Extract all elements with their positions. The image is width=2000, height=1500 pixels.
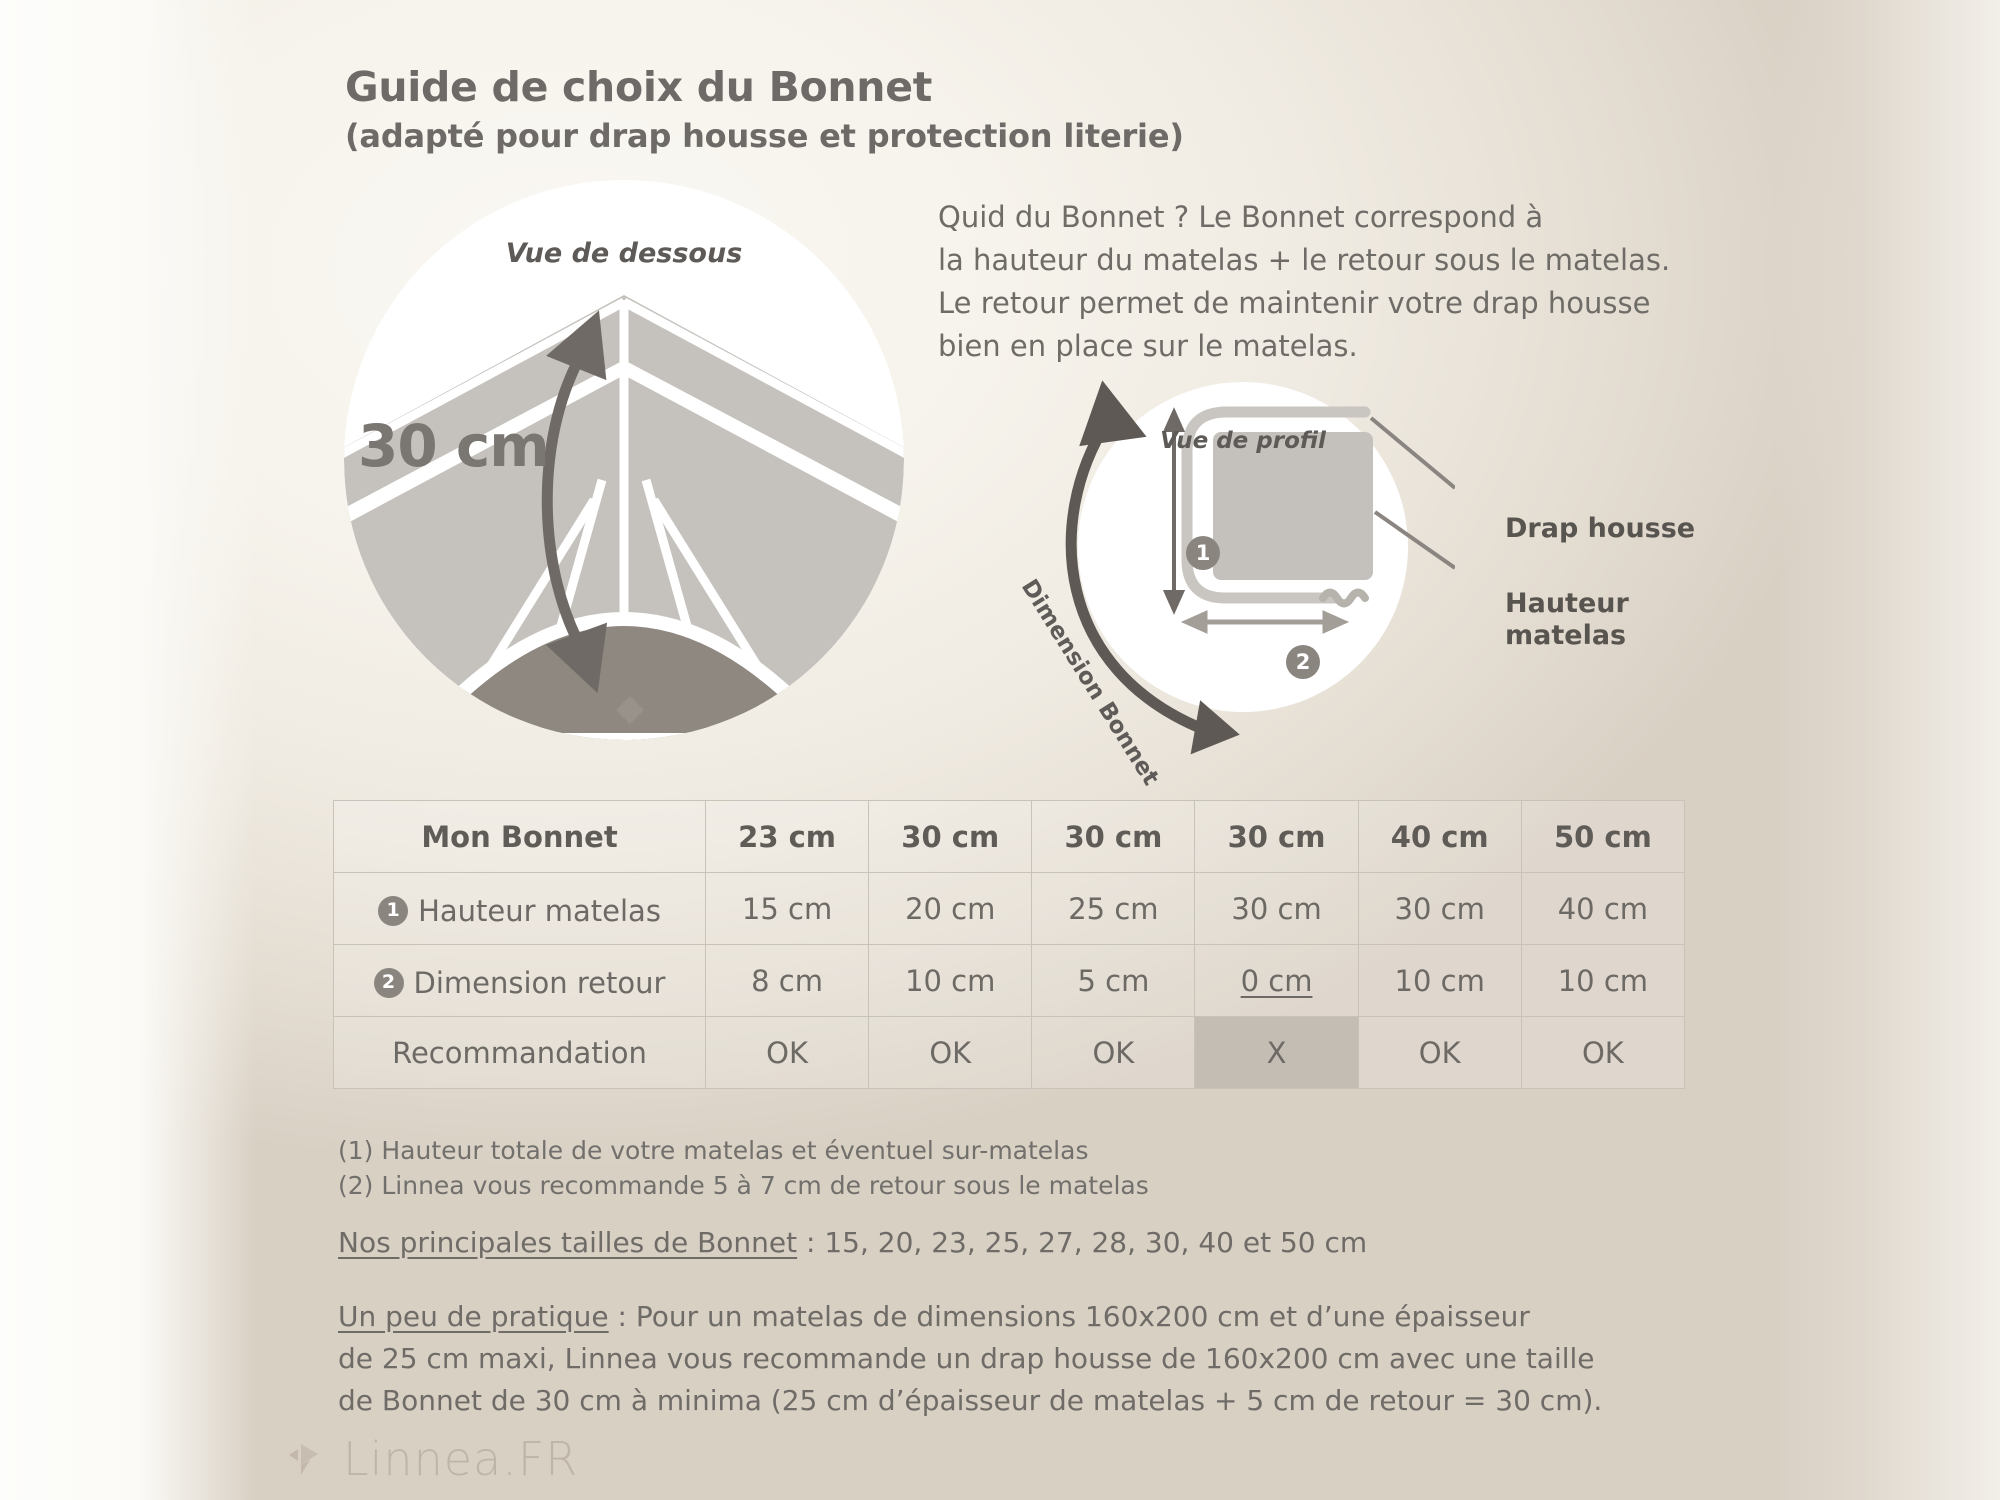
cell-reco-3: X [1195,1017,1358,1089]
cell-retour-1: 10 cm [869,945,1032,1017]
diagram-badge-1: 1 [1186,536,1220,570]
cell-retour-3-value: 0 cm [1241,964,1313,998]
cell-bonnet-5: 50 cm [1521,801,1684,873]
linnea-logo[interactable]: Linnea.FR [285,1432,578,1486]
diagram-badge-2: 2 [1286,645,1320,679]
table-badge-1: 1 [378,896,408,926]
bonnet-table: Mon Bonnet 23 cm 30 cm 30 cm 30 cm 40 cm… [333,800,1685,1089]
page-subtitle: (adapté pour drap housse et protection l… [345,117,1184,155]
bonnet-measure-label: 30 cm [358,412,549,480]
bottom-view-label: Vue de dessous [344,238,904,269]
row-label-mon-bonnet: Mon Bonnet [334,801,706,873]
callout-hauteur-line-2: matelas [1505,620,1629,652]
cell-reco-1: OK [869,1017,1032,1089]
cell-bonnet-4: 40 cm [1358,801,1521,873]
cell-bonnet-0: 23 cm [706,801,869,873]
practice-line-3: de Bonnet de 30 cm à minima (25 cm d’épa… [338,1380,1602,1422]
bonnet-comparison-table: Mon Bonnet 23 cm 30 cm 30 cm 30 cm 40 cm… [333,800,1685,1089]
footnote-1: (1) Hauteur totale de votre matelas et é… [338,1133,1149,1168]
table-row-header: Mon Bonnet 23 cm 30 cm 30 cm 30 cm 40 cm… [334,801,1685,873]
row-label-dimension-retour: 2 Dimension retour [334,945,706,1017]
cell-hauteur-1: 20 cm [869,873,1032,945]
cell-retour-0: 8 cm [706,945,869,1017]
cell-hauteur-3: 30 cm [1195,873,1358,945]
intro-paragraph: Quid du Bonnet ? Le Bonnet correspond à … [938,196,1698,368]
intro-line-3: Le retour permet de maintenir votre drap… [938,282,1698,325]
practice-block: Un peu de pratique : Pour un matelas de … [338,1296,1602,1422]
table-row-recommandation: Recommandation OK OK OK X OK OK [334,1017,1685,1089]
cell-bonnet-3: 30 cm [1195,801,1358,873]
intro-line-4: bien en place sur le matelas. [938,325,1698,368]
cell-reco-2: OK [1032,1017,1195,1089]
row-label-recommandation: Recommandation [334,1017,706,1089]
profile-view-label: Vue de profil [1078,428,1408,454]
cell-retour-3: 0 cm [1195,945,1358,1017]
callout-drap-housse: Drap housse [1505,513,1695,545]
intro-line-2: la hauteur du matelas + le retour sous l… [938,239,1698,282]
callout-hauteur-line-1: Hauteur [1505,588,1629,620]
cell-bonnet-2: 30 cm [1032,801,1195,873]
cell-hauteur-0: 15 cm [706,873,869,945]
cell-retour-2: 5 cm [1032,945,1195,1017]
infographic-canvas: Guide de choix du Bonnet (adapté pour dr… [0,0,2000,1500]
table-row-dimension-retour: 2 Dimension retour 8 cm 10 cm 5 cm 0 cm … [334,945,1685,1017]
sizes-line: Nos principales tailles de Bonnet : 15, … [338,1226,1367,1259]
practice-label: Un peu de pratique [338,1300,609,1333]
cell-hauteur-2: 25 cm [1032,873,1195,945]
footnotes: (1) Hauteur totale de votre matelas et é… [338,1133,1149,1203]
cell-retour-5: 10 cm [1521,945,1684,1017]
linnea-logo-text: Linnea.FR [343,1432,578,1486]
cell-reco-4: OK [1358,1017,1521,1089]
row-label-hauteur-matelas: 1 Hauteur matelas [334,873,706,945]
footnote-2: (2) Linnea vous recommande 5 à 7 cm de r… [338,1168,1149,1203]
linnea-mark-icon [285,1439,327,1479]
intro-line-1: Quid du Bonnet ? Le Bonnet correspond à [938,196,1698,239]
page-title: Guide de choix du Bonnet [345,63,932,111]
table-row-hauteur-matelas: 1 Hauteur matelas 15 cm 20 cm 25 cm 30 c… [334,873,1685,945]
cell-hauteur-4: 30 cm [1358,873,1521,945]
table-badge-2: 2 [374,968,404,998]
cell-retour-4: 10 cm [1358,945,1521,1017]
sizes-label: Nos principales tailles de Bonnet [338,1226,797,1259]
practice-line-1: Un peu de pratique : Pour un matelas de … [338,1296,1602,1338]
cell-reco-0: OK [706,1017,869,1089]
row-label-retour-text: Dimension retour [414,966,666,1000]
cell-bonnet-1: 30 cm [869,801,1032,873]
practice-line-2: de 25 cm maxi, Linnea vous recommande un… [338,1338,1602,1380]
sizes-value: : 15, 20, 23, 25, 27, 28, 30, 40 et 50 c… [797,1226,1367,1259]
row-label-hauteur-text: Hauteur matelas [418,894,661,928]
practice-line-1-rest: : Pour un matelas de dimensions 160x200 … [609,1300,1530,1333]
cell-hauteur-5: 40 cm [1521,873,1684,945]
cell-reco-5: OK [1521,1017,1684,1089]
callout-hauteur-matelas: Hauteur matelas [1505,588,1629,652]
